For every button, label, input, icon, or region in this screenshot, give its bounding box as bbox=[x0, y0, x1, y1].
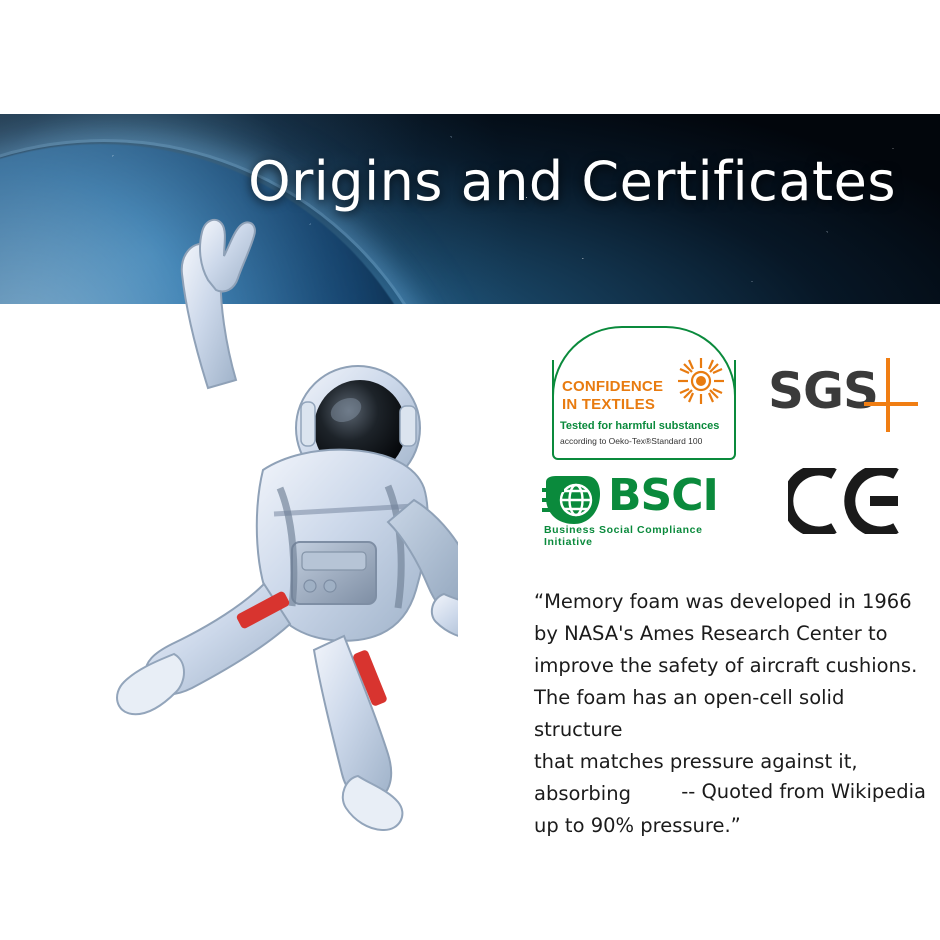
oeko-tex-line2: IN TEXTILES bbox=[562, 396, 655, 413]
bsci-label: BSCI bbox=[608, 470, 718, 521]
quote-line-4: The foam has an open-cell solid structur… bbox=[534, 682, 926, 746]
quote-line-3: improve the safety of aircraft cushions. bbox=[534, 650, 926, 682]
sgs-label: SGS bbox=[768, 362, 878, 420]
bsci-logo: BSCI Business Social Compliance Initiati… bbox=[542, 474, 748, 540]
ce-mark-icon bbox=[788, 468, 908, 534]
sgs-accent-horizontal bbox=[864, 402, 918, 406]
sgs-logo: SGS bbox=[768, 362, 918, 436]
oeko-tex-burst-icon bbox=[672, 352, 730, 410]
bsci-subtitle: Business Social Compliance Initiative bbox=[544, 524, 748, 548]
quote-attribution: -- Quoted from Wikipedia bbox=[534, 780, 926, 803]
quote-line-2: by NASA's Ames Research Center to bbox=[534, 618, 926, 650]
oeko-tex-line1: CONFIDENCE bbox=[562, 378, 663, 395]
sgs-accent-vertical bbox=[886, 358, 890, 432]
product-infographic-page: Origins and Certificates bbox=[0, 0, 940, 940]
quote-block: “Memory foam was developed in 1966 by NA… bbox=[534, 586, 926, 842]
oeko-tex-logo: CONFIDENCE IN TEXTILES Tested for harmfu… bbox=[552, 360, 736, 460]
quote-line-6: up to 90% pressure.” bbox=[534, 810, 926, 842]
bsci-globe-icon bbox=[542, 474, 602, 526]
certificates-group: CONFIDENCE IN TEXTILES Tested for harmfu… bbox=[536, 356, 920, 556]
quote-line-1: “Memory foam was developed in 1966 bbox=[534, 586, 926, 618]
oeko-tex-line4: according to Oeko-Tex®Standard 100 bbox=[560, 436, 702, 446]
oeko-tex-line3: Tested for harmful substances bbox=[560, 420, 719, 432]
astronaut-image bbox=[58, 170, 458, 840]
